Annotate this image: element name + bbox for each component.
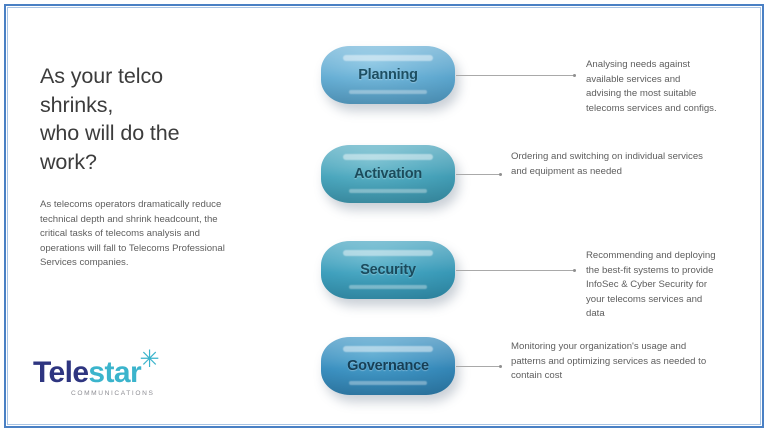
connector-line-security — [456, 270, 574, 271]
intro-paragraph: As telecoms operators dramatically reduc… — [40, 198, 240, 271]
stage-pill-security[interactable]: Security — [321, 241, 455, 299]
pill-highlight-bottom — [349, 381, 427, 385]
stage-label: Planning — [358, 67, 418, 83]
logo-wordmark: Telestar✳ — [33, 358, 141, 388]
logo-word-star: star — [88, 356, 141, 389]
stage-description-activation: Ordering and switching on individual ser… — [511, 150, 711, 179]
pill-highlight-top — [343, 250, 433, 256]
pill-highlight-bottom — [349, 189, 427, 193]
stage-description-security: Recommending and deploying the best-fit … — [586, 249, 718, 322]
stage-pill-activation[interactable]: Activation — [321, 145, 455, 203]
logo: Telestar✳ COMMUNICATIONS — [33, 358, 208, 397]
connector-line-governance — [456, 366, 500, 367]
pill-highlight-bottom — [349, 285, 427, 289]
pill-highlight-bottom — [349, 90, 427, 94]
connector-endpoint-governance — [499, 365, 502, 368]
slide: As your telco shrinks, who will do the w… — [0, 0, 768, 432]
pill-highlight-top — [343, 154, 433, 160]
left-column: As your telco shrinks, who will do the w… — [40, 62, 280, 176]
logo-subtitle: COMMUNICATIONS — [71, 390, 208, 397]
stage-pill-planning[interactable]: Planning — [321, 46, 455, 104]
stage-description-governance: Monitoring your organization's usage and… — [511, 340, 716, 384]
pill-highlight-top — [343, 55, 433, 61]
logo-word-tele: Tele — [33, 356, 88, 389]
connector-endpoint-planning — [573, 74, 576, 77]
page-title: As your telco shrinks, who will do the w… — [40, 62, 280, 176]
connector-line-activation — [456, 174, 500, 175]
stage-pill-governance[interactable]: Governance — [321, 337, 455, 395]
connector-line-planning — [456, 75, 574, 76]
stage-label: Security — [360, 262, 416, 278]
stage-description-planning: Analysing needs against available servic… — [586, 58, 718, 116]
stage-label: Governance — [347, 358, 429, 374]
connector-endpoint-security — [573, 269, 576, 272]
pill-highlight-top — [343, 346, 433, 352]
connector-endpoint-activation — [499, 173, 502, 176]
asterisk-icon: ✳ — [140, 348, 160, 372]
stage-label: Activation — [354, 166, 422, 182]
